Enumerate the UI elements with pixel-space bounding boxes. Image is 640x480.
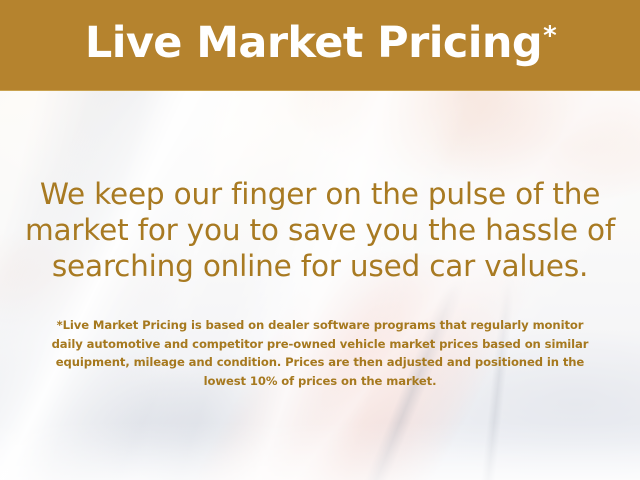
page-title-text: Live Market Pricing — [85, 18, 542, 68]
headline-copy: We keep our finger on the pulse of the m… — [0, 176, 640, 284]
page-title: Live Market Pricing* — [85, 22, 555, 65]
disclaimer-line: lowest 10% of prices on the market. — [30, 372, 610, 391]
page-title-asterisk: * — [543, 21, 556, 51]
headline-line: We keep our finger on the pulse of the — [0, 176, 640, 212]
disclaimer-line: *Live Market Pricing is based on dealer … — [30, 316, 610, 335]
live-market-pricing-slide: Live Market Pricing* We keep our finger … — [0, 0, 640, 480]
disclaimer-text: *Live Market Pricing is based on dealer … — [0, 316, 640, 390]
header-band: Live Market Pricing* — [0, 0, 640, 91]
disclaimer-line: equipment, mileage and condition. Prices… — [30, 353, 610, 372]
headline-line: market for you to save you the hassle of — [0, 212, 640, 248]
headline-line: searching online for used car values. — [0, 248, 640, 284]
disclaimer-line: daily automotive and competitor pre-owne… — [30, 335, 610, 354]
